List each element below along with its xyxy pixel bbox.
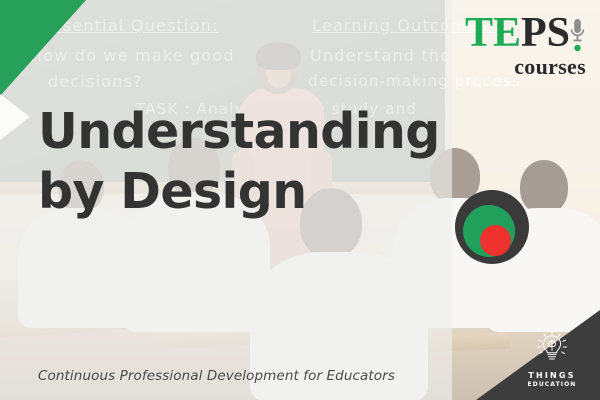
white-arrow-triangle bbox=[0, 94, 30, 140]
circle-inner-red bbox=[480, 225, 511, 256]
slide-canvas: Essential Question: How do we make good … bbox=[0, 0, 600, 400]
things-sub-text: EDUCATION bbox=[520, 381, 584, 388]
teps-wordmark: TEPS bbox=[465, 12, 586, 54]
green-corner-triangle bbox=[0, 0, 86, 96]
page-title: Understanding by Design bbox=[38, 102, 458, 222]
lightbulb-brain-icon bbox=[532, 329, 572, 363]
teps-ps-text: PS bbox=[521, 10, 570, 56]
subtitle-tagline: Continuous Professional Development for … bbox=[38, 368, 395, 384]
concentric-circles-mark bbox=[455, 190, 529, 264]
microphone-icon bbox=[570, 12, 586, 52]
teps-te-text: TE bbox=[465, 10, 521, 56]
title-line-2: by Design bbox=[38, 162, 458, 222]
teps-courses-text: courses bbox=[465, 56, 586, 78]
things-name-text: THINGS bbox=[520, 371, 584, 380]
teps-logo[interactable]: TEPS courses bbox=[465, 12, 586, 78]
things-education-logo[interactable]: THINGS EDUCATION bbox=[520, 329, 584, 388]
title-line-1: Understanding bbox=[38, 102, 458, 162]
